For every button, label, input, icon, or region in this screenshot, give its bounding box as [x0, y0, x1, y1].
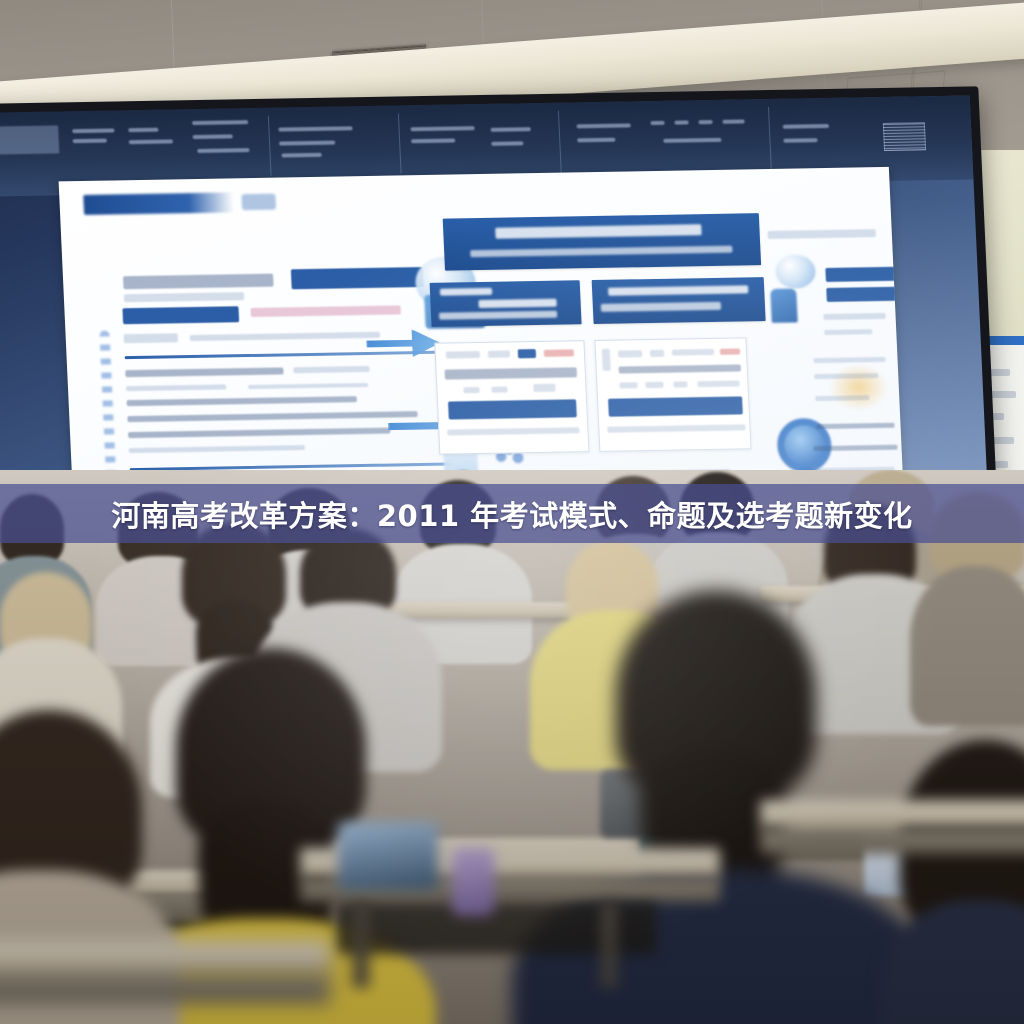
slide-text: [816, 423, 894, 429]
slide-decoration: [828, 363, 890, 412]
title-overlay-band: 河南高考改革方案：2011 年考试模式、命题及选考题新变化: [0, 484, 1024, 543]
desk: [0, 940, 330, 974]
slide-heading-text: [123, 274, 274, 290]
slide-chip: [122, 306, 239, 324]
slide-illustration: [770, 288, 798, 322]
slide-illustration: [775, 254, 817, 289]
desk-front-panel: [760, 828, 1024, 854]
classroom-audience: [0, 470, 1024, 1024]
slide-chip: [825, 267, 904, 282]
water-bottle: [452, 848, 494, 916]
desk: [760, 800, 1024, 828]
slide-divider: [125, 351, 445, 360]
slide-text: [190, 332, 380, 341]
screenshot-root: 河南高考改革方案：2011 年考试模式、命题及选考题新变化: [0, 0, 1024, 1024]
tablet-device: [338, 822, 438, 890]
slide-text: [815, 395, 869, 401]
slide-text: [768, 229, 876, 239]
page-title: 河南高考改革方案：2011 年考试模式、命题及选考题新变化: [111, 493, 912, 535]
display-speaker-grille-icon: [883, 122, 926, 151]
slide-header-bar: [443, 213, 761, 270]
slide-chip: [826, 287, 897, 302]
slide-text: [248, 383, 368, 389]
slide-text: [127, 411, 417, 422]
slide-text: [813, 445, 897, 451]
desk-leg: [600, 902, 618, 988]
slide-logo-mark-icon: [241, 194, 276, 211]
slide-text: [251, 305, 401, 317]
slide-text: [127, 396, 357, 406]
slide-chip: [291, 267, 424, 289]
slide-text: [126, 384, 226, 391]
slide-card: [594, 337, 751, 452]
slide-logo: [83, 192, 234, 215]
slide-text: [125, 367, 283, 377]
slide-text: [124, 292, 244, 302]
desk-leg: [352, 902, 370, 988]
slide-text: [823, 313, 885, 320]
slide-header-bar: [592, 277, 766, 324]
slide-text: [124, 333, 178, 343]
desk-front-panel: [0, 974, 330, 1004]
slide-text: [128, 428, 390, 439]
slide-text: [293, 366, 369, 373]
slide-header-bar: [430, 280, 582, 327]
slide-text: [129, 445, 305, 453]
slide-card: [434, 340, 589, 455]
slide-text: [824, 329, 872, 335]
